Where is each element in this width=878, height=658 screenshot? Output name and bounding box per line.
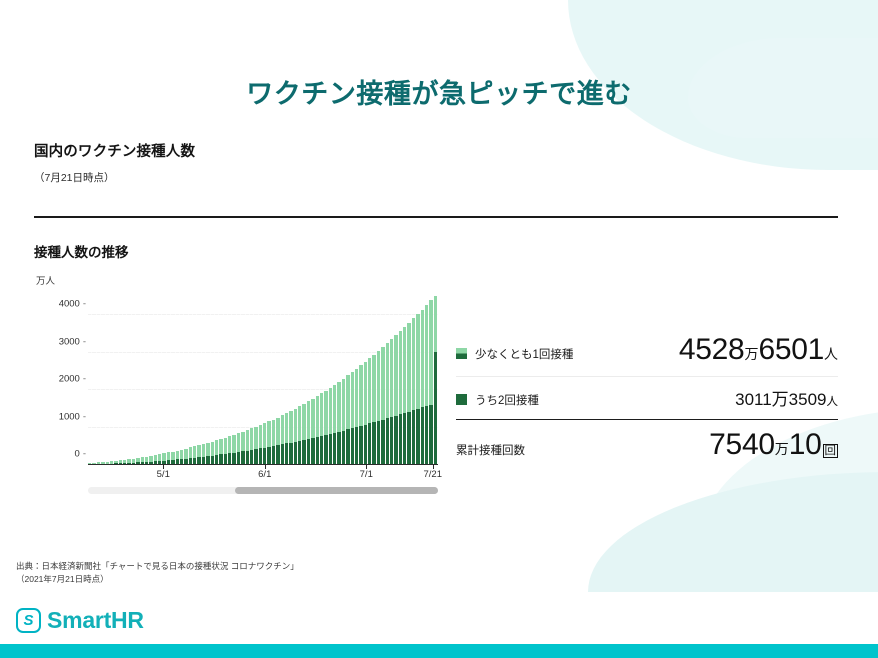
stat-row: 少なくとも1回接種4528万6501人 [456,325,838,377]
bar-segment-first-dose [351,372,354,428]
y-axis-tick-label: 4000- [59,299,86,310]
bar-segment-second-dose [281,444,284,464]
smarthr-logo-icon: S [16,608,41,633]
bar-segment-second-dose [276,445,279,464]
bar-segment-second-dose [250,450,253,464]
stat-value-part: 万 [772,390,789,409]
bar-segment-first-dose [372,355,375,423]
bar-segment-second-dose [298,441,301,464]
bar-segment-second-dose [351,428,354,464]
bar-segment-first-dose [342,379,345,431]
bar-segment-second-dose [372,422,375,464]
bar-segment-first-dose [158,454,161,461]
legend-swatch-second-dose-icon [456,394,467,405]
bar-segment-first-dose [281,415,284,444]
stat-label: 少なくとも1回接種 [456,346,573,362]
bar-segment-first-dose [412,318,415,410]
bar-segment-second-dose [329,434,332,464]
bar-segment-second-dose [246,451,249,464]
bar-segment-second-dose [377,421,380,464]
bar-segment-first-dose [302,404,305,440]
source-line-2: （2021年7月21日時点） [16,573,299,586]
bar-segment-first-dose [171,452,174,460]
bar-segment-second-dose [425,406,428,464]
stat-row: うち2回接種3011万3509人 [456,377,838,420]
card-heading: 国内のワクチン接種人数 [34,140,838,161]
bar-segment-first-dose [267,421,270,446]
stat-value-part: 万 [744,346,758,362]
bar-segment-first-dose [180,450,183,459]
stat-value-part: 人 [824,346,838,362]
bar-segment-first-dose [232,435,235,453]
stat-label: うち2回接種 [456,392,539,408]
bar-segment-first-dose [429,300,432,404]
stat-label: 累計接種回数 [456,442,525,458]
bar-segment-first-dose [316,396,319,437]
stat-label-text: 累計接種回数 [456,442,525,458]
bar-segment-second-dose [311,438,314,464]
bar-segment-first-dose [193,446,196,457]
bar-segment-second-dose [337,432,340,464]
bar-segment-first-dose [189,447,192,458]
bar-segment-second-dose [434,352,437,464]
bar-segment-second-dose [346,429,349,464]
bar-segment-first-dose [307,401,310,438]
plot-area: 0-1000-2000-3000-4000- [34,293,438,465]
bar-segment-first-dose [368,358,371,423]
stat-value-part: 7540 [709,428,775,461]
bar-segment-second-dose [285,443,288,464]
stat-label-text: うち2回接種 [475,392,539,408]
stat-value-part: 3509 [789,390,827,409]
bar-segment-first-dose [377,351,380,421]
bar-segment-second-dose [259,448,262,464]
source-note: 出典：日本経済新聞社「チャートで見る日本の接種状況 コロナワクチン」 （2021… [16,560,299,586]
bar-segment-first-dose [254,427,257,449]
bar-segment-first-dose [381,347,384,420]
bar-segment-first-dose [425,305,428,406]
bar-segment-first-dose [246,430,249,450]
bar-segment-second-dose [211,456,214,464]
chart-block: 万人 0-1000-2000-3000-4000- 5/16/17/17/21 [34,273,438,494]
bottom-accent-bar [0,644,878,658]
bar-segment-first-dose [206,443,209,456]
stat-value: 4528万6501人 [679,333,838,367]
bar-segment-second-dose [381,420,384,464]
bar-segment-second-dose [412,410,415,464]
source-line-1: 出典：日本経済新聞社「チャートで見る日本の接種状況 コロナワクチン」 [16,560,299,573]
x-axis-tick-label: 5/1 [157,469,170,480]
bar-segment-first-dose [276,418,279,446]
horizontal-divider [34,216,838,218]
bar-segment-first-dose [197,445,200,457]
x-axis-tick-label: 6/1 [258,469,271,480]
chart-and-stats-row: 万人 0-1000-2000-3000-4000- 5/16/17/17/21 … [34,273,838,494]
y-axis-unit-label: 万人 [36,273,438,287]
bar-segment-first-dose [272,420,275,446]
bar-segment-second-dose [333,433,336,464]
bar-segment-first-dose [390,339,393,417]
chart-scrollbar-thumb[interactable] [235,487,438,494]
bar [434,293,438,464]
bar-segment-second-dose [254,449,257,464]
bar-segment-first-dose [320,393,323,435]
chart-section-title: 接種人数の推移 [34,241,838,261]
bar-segment-second-dose [359,426,362,464]
statistics-card: 国内のワクチン接種人数 （7月21日時点） 接種人数の推移 万人 0-1000-… [34,140,838,494]
x-axis-labels: 5/16/17/17/21 [88,465,438,483]
bar-segment-first-dose [416,314,419,409]
bar-segment-first-dose [228,436,231,453]
bar-segment-second-dose [394,416,397,464]
stats-list: 少なくとも1回接種4528万6501人うち2回接種3011万3509人累計接種回… [438,273,838,471]
bar-segment-first-dose [263,423,266,447]
bar-segment-first-dose [202,444,205,457]
stat-value: 3011万3509人 [735,385,838,410]
bar-segment-first-dose [421,310,424,408]
smarthr-logo: S SmartHR [16,607,144,634]
bar-segment-first-dose [259,425,262,448]
bar-segment-second-dose [342,431,345,464]
bar-segment-second-dose [224,454,227,464]
x-axis-tick-label: 7/21 [424,469,443,480]
stat-value: 7540万10回 [709,428,838,462]
bar-segment-second-dose [364,425,367,464]
bar-segment-first-dose [241,432,244,452]
y-axis-tick-label: 3000- [59,336,86,347]
bar-segment-first-dose [337,382,340,432]
stat-row: 累計接種回数7540万10回 [456,420,838,471]
bar-segment-first-dose [386,343,389,418]
bar-segment-first-dose [311,399,314,438]
bar-segment-first-dose [329,388,332,434]
bar-segment-second-dose [407,412,410,464]
plot-canvas [88,293,438,465]
bar-segment-second-dose [302,440,305,464]
bar-segment-first-dose [184,449,187,459]
bar-segment-first-dose [394,335,397,416]
bar-segment-first-dose [211,442,214,456]
stat-value-part: 4528 [679,333,745,366]
chart-scrollbar[interactable] [88,487,438,494]
bar-segment-first-dose [403,327,406,413]
bar-segment-first-dose [434,296,437,352]
stat-label-text: 少なくとも1回接種 [475,346,573,362]
slide-canvas: ワクチン接種が急ピッチで進む 国内のワクチン接種人数 （7月21日時点） 接種人… [0,0,878,658]
bar-segment-first-dose [224,438,227,454]
bar-segment-second-dose [241,451,244,464]
smarthr-logo-wordmark: SmartHR [47,607,144,634]
bar-segment-second-dose [219,454,222,464]
bar-segment-second-dose [355,427,358,464]
bar-segment-first-dose [162,453,165,460]
bar-segment-second-dose [263,448,266,464]
bar-segment-first-dose [215,440,218,455]
bar-segment-second-dose [386,418,389,464]
card-subheading: （7月21日時点） [34,170,838,185]
bar-segment-first-dose [167,452,170,460]
bar-segment-second-dose [272,446,275,464]
bar-segment-second-dose [316,437,319,464]
bar-segment-first-dose [407,323,410,412]
bar-segment-second-dose [289,443,292,464]
bar-segment-second-dose [197,457,200,464]
bar-segment-second-dose [421,407,424,464]
bar-segment-first-dose [237,433,240,452]
bar-segment-second-dose [294,442,297,464]
stat-value-part: 3011 [735,390,772,409]
bar-segment-second-dose [368,423,371,464]
bar-segment-first-dose [359,365,362,426]
bar-segment-first-dose [219,439,222,455]
bar-segment-second-dose [429,405,432,465]
bar-segment-first-dose [355,369,358,427]
bar-segment-second-dose [202,457,205,464]
bar-segment-first-dose [289,411,292,442]
y-axis-tick-label: 2000- [59,374,86,385]
page-title: ワクチン接種が急ピッチで進む [0,72,878,111]
bar-segment-first-dose [298,406,301,440]
bar-segment-second-dose [399,414,402,464]
bar-segment-first-dose [346,375,349,429]
y-axis-tick-label: 1000- [59,411,86,422]
bar-segment-second-dose [320,436,323,464]
bar-segment-second-dose [307,439,310,464]
x-axis-tick-label: 7/1 [360,469,373,480]
bar-segment-second-dose [403,413,406,464]
stat-value-part: 万 [775,441,789,457]
y-axis-tick-label: 0- [75,449,86,460]
bar-segment-second-dose [228,453,231,464]
stat-value-part: 6501 [758,333,824,366]
bar-segment-first-dose [333,385,336,433]
bar-series [88,293,438,464]
bar-segment-second-dose [416,409,419,464]
bar-segment-second-dose [324,435,327,464]
bar-segment-second-dose [237,452,240,464]
legend-swatch-first-dose-icon [456,348,467,359]
y-axis: 0-1000-2000-3000-4000- [34,293,86,465]
bar-segment-first-dose [250,428,253,449]
bar-segment-second-dose [232,453,235,464]
stat-value-part: 人 [827,396,839,408]
stat-value-part: 回 [823,444,839,458]
bar-segment-first-dose [399,331,402,414]
bar-segment-first-dose [324,391,327,435]
bar-segment-first-dose [176,451,179,460]
bar-segment-second-dose [215,455,218,464]
bar-segment-first-dose [285,413,288,443]
bar-segment-second-dose [390,417,393,464]
bar-segment-second-dose [206,456,209,464]
stat-value-part: 10 [789,428,822,461]
bar-segment-first-dose [294,409,297,442]
bar-segment-first-dose [364,362,367,425]
bar-segment-second-dose [267,447,270,464]
